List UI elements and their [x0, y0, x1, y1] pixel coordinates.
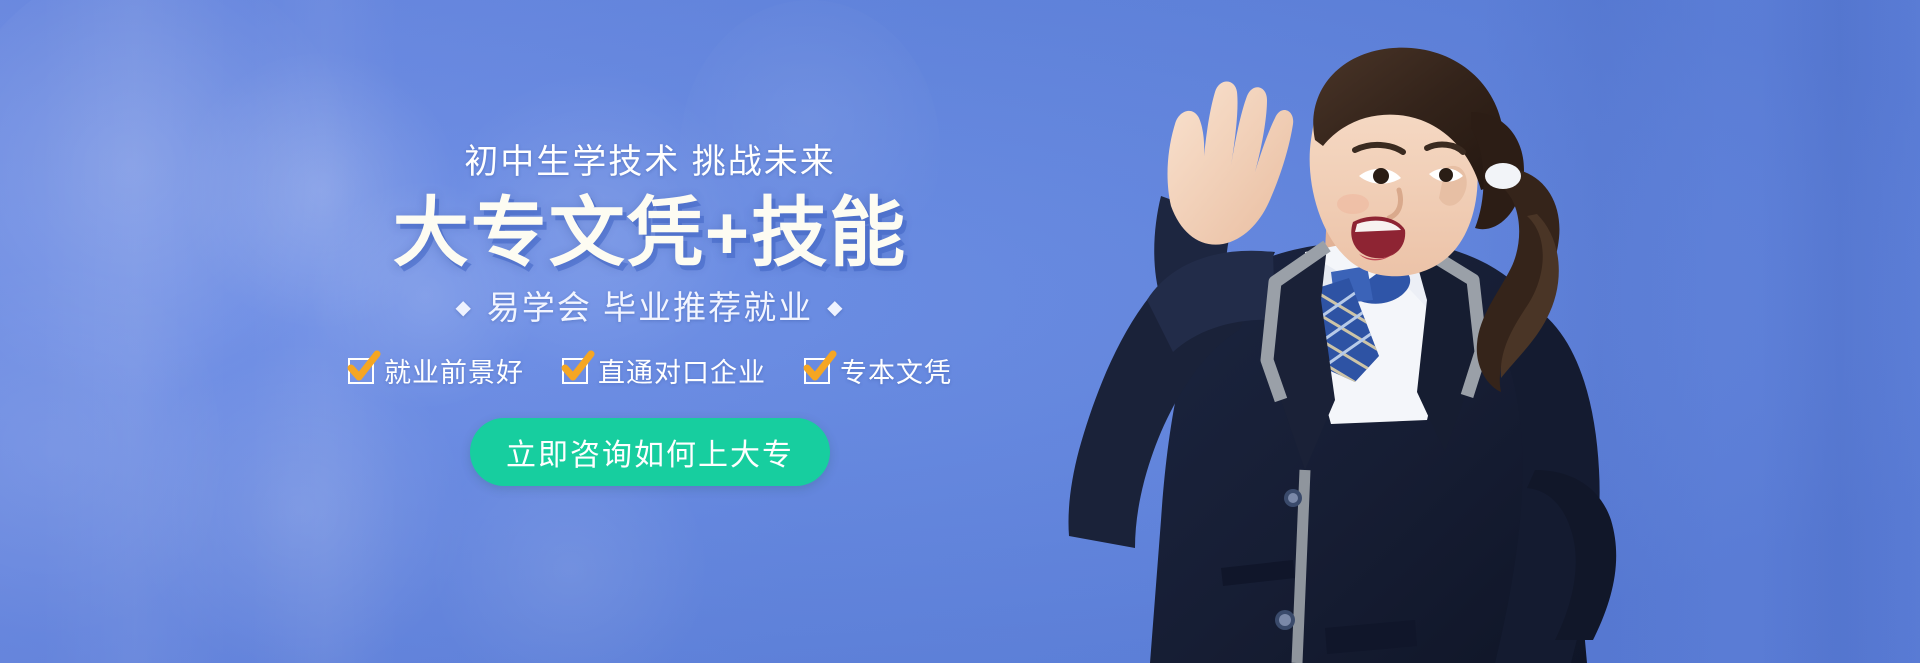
checkbox-checked-icon: [804, 358, 830, 384]
raised-hand: [1168, 82, 1294, 245]
cta-container: 立即咨询如何上大专: [300, 418, 1000, 486]
headline: 大专文凭+技能: [300, 196, 1000, 272]
background-band: [40, 0, 230, 663]
tagline: 初中生学技术 挑战未来: [300, 142, 1000, 183]
feature-item: 专本文凭: [804, 351, 952, 390]
subline: ◆ 易学会 毕业推荐就业 ◆: [300, 288, 1000, 328]
feature-item: 就业前景好: [348, 351, 524, 390]
feature-label: 就业前景好: [384, 351, 524, 390]
checkbox-checked-icon: [562, 358, 588, 384]
blush: [1337, 194, 1369, 214]
subline-text: 易学会 毕业推荐就业: [487, 288, 813, 328]
banner-copy: 初中生学技术 挑战未来 大专文凭+技能 ◆ 易学会 毕业推荐就业 ◆ 就业前景好: [300, 142, 1000, 486]
hair-tie: [1485, 163, 1521, 189]
feature-list: 就业前景好 直通对口企业 专本文凭: [300, 351, 1000, 390]
student-photo: [975, 0, 1675, 663]
consult-cta-button[interactable]: 立即咨询如何上大专: [470, 418, 830, 486]
feature-label: 直通对口企业: [598, 351, 766, 390]
feature-label: 专本文凭: [840, 351, 952, 390]
background-band: [1760, 0, 1920, 663]
diamond-icon-left: ◆: [456, 298, 473, 318]
checkbox-checked-icon: [348, 358, 374, 384]
bokeh-circle: [0, 230, 220, 663]
diamond-icon-right: ◆: [827, 298, 844, 318]
feature-item: 直通对口企业: [562, 351, 766, 390]
promo-banner: 初中生学技术 挑战未来 大专文凭+技能 ◆ 易学会 毕业推荐就业 ◆ 就业前景好: [0, 0, 1920, 663]
